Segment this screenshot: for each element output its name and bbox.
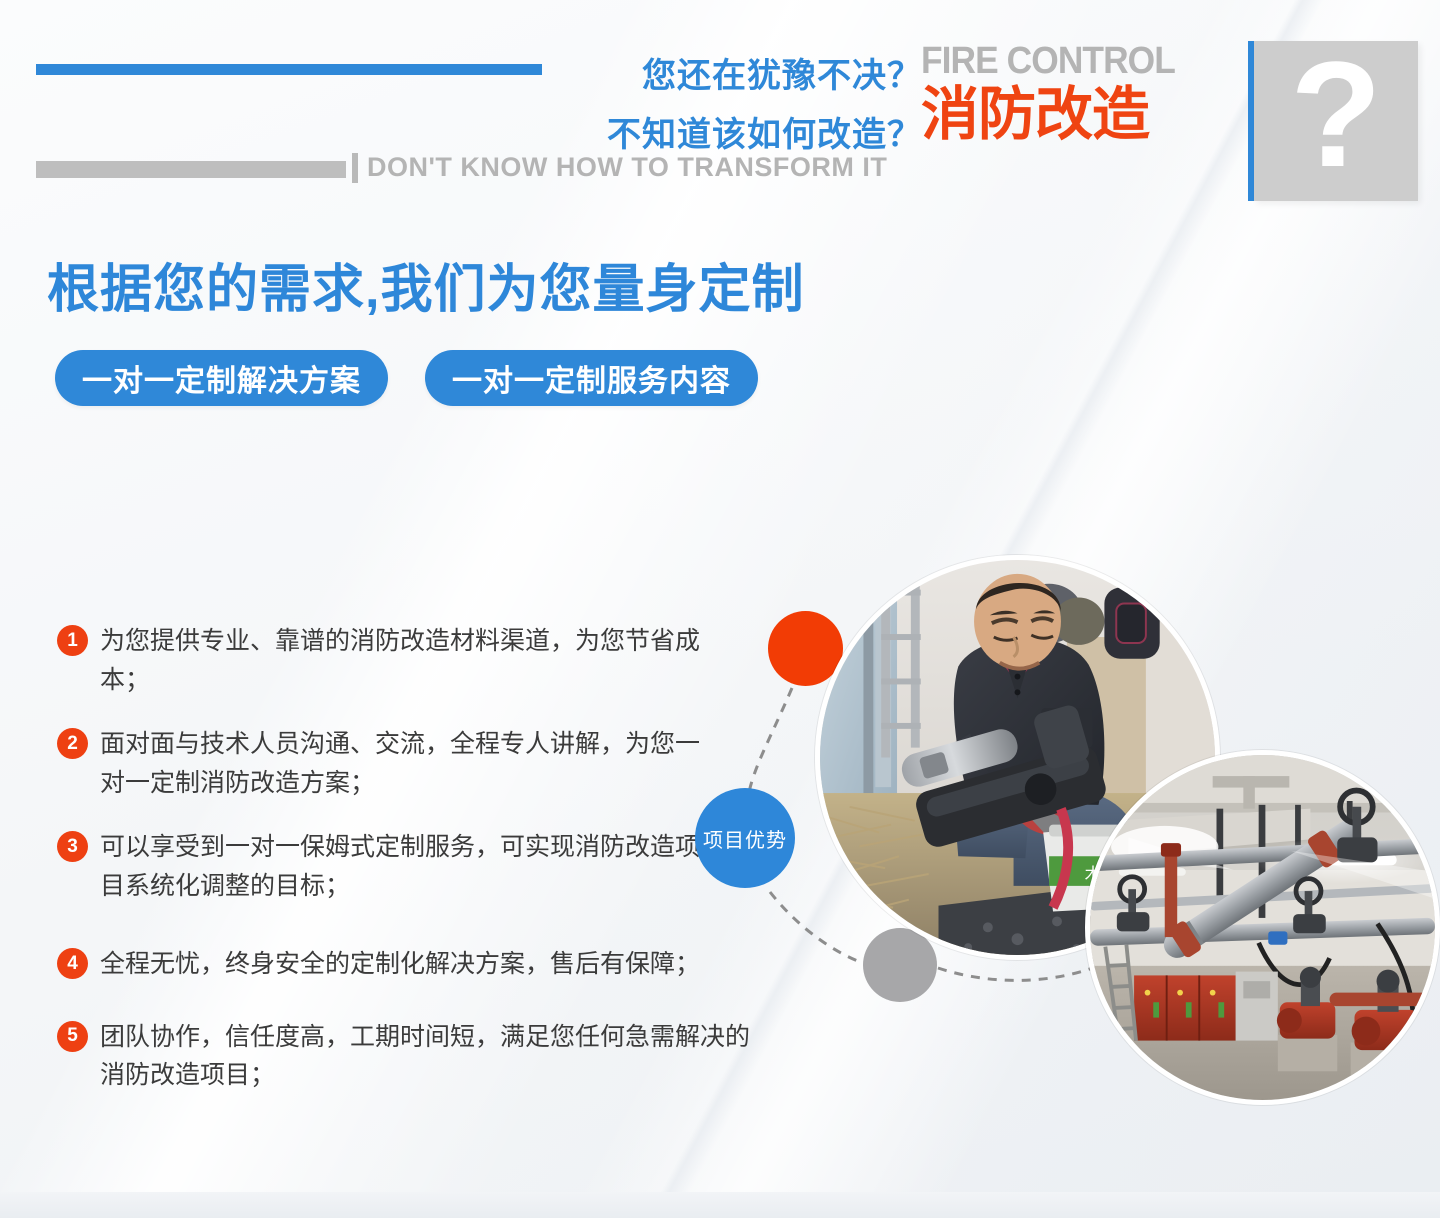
list-item: 4 全程无忧，终身安全的定制化解决方案，售后有保障； [57,945,757,984]
decorative-gray-dot [863,928,937,1002]
question-mark-icon: ? [1290,39,1382,189]
header-blue-rule [36,64,542,75]
list-item: 2 面对面与技术人员沟通、交流，全程专人讲解，为您一对一定制消防改造方案； [57,725,757,802]
list-item-number-4: 4 [57,948,88,979]
header-subtitle-tick [352,153,358,183]
photo-fire-pump-room [1085,750,1440,1105]
list-item-number-5: 5 [57,1021,88,1052]
list-item-text: 全程无忧，终身安全的定制化解决方案，售后有保障； [100,945,757,984]
list-item-number-3: 3 [57,831,88,862]
brand-chinese-label: 消防改造 [921,84,1231,147]
page-title: 根据您的需求,我们为您量身定制 [47,247,804,322]
list-item-number-2: 2 [57,728,88,759]
header-gray-rule [36,161,346,178]
list-item: 1 为您提供专业、靠谱的消防改造材料渠道，为您节省成本； [57,622,757,699]
brand-english-label: FIRE CONTROL [921,42,1209,80]
header-question-line-1: 您还在犹豫不决？ [642,48,922,97]
question-mark-box: ? [1254,41,1418,201]
header-question-line-2: 不知道该如何改造？ [607,107,922,156]
list-item-text: 团队协作，信任度高，工期时间短，满足您任何急需解决的消防改造项目； [100,1018,757,1095]
project-advantage-badge: 项目优势 [695,788,795,888]
pill-custom-service[interactable]: 一对一定制服务内容 [425,350,758,406]
project-advantage-badge-label: 项目优势 [703,824,787,853]
brand-block: FIRE CONTROL 消防改造 [921,42,1231,147]
graphic-cluster: 项目优势 [660,520,1440,1100]
header-english-subtitle: DON'T KNOW HOW TO TRANSFORM IT [367,152,887,183]
bottom-strip [0,1192,1440,1218]
pill-group: 一对一定制解决方案 一对一定制服务内容 [55,350,758,406]
header-english-subtitle-group: DON'T KNOW HOW TO TRANSFORM IT [352,152,887,183]
list-item-text: 为您提供专业、靠谱的消防改造材料渠道，为您节省成本； [100,622,700,699]
list-item: 3 可以享受到一对一保姆式定制服务，可实现消防改造项目系统化调整的目标； [57,828,757,905]
list-item-number-1: 1 [57,625,88,656]
advantages-list: 1 为您提供专业、靠谱的消防改造材料渠道，为您节省成本； 2 面对面与技术人员沟… [57,622,757,1121]
pill-custom-solution[interactable]: 一对一定制解决方案 [55,350,388,406]
list-item: 5 团队协作，信任度高，工期时间短，满足您任何急需解决的消防改造项目； [57,1018,757,1095]
page-header: 您还在犹豫不决？ 不知道该如何改造？ DON'T KNOW HOW TO TRA… [0,0,1440,215]
list-item-text: 面对面与技术人员沟通、交流，全程专人讲解，为您一对一定制消防改造方案； [100,725,700,802]
list-item-text: 可以享受到一对一保姆式定制服务，可实现消防改造项目系统化调整的目标； [100,828,700,905]
